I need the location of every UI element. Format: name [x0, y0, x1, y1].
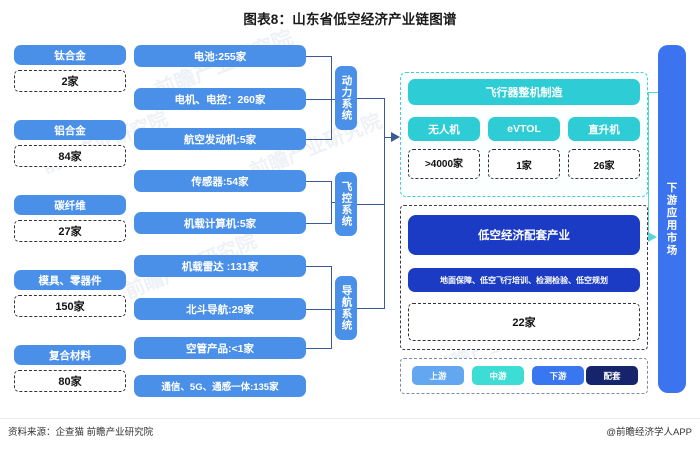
midstream-count-helicopter: 26家: [568, 149, 640, 179]
component-airborne-radar: 机载雷达 :131家: [134, 255, 306, 277]
downstream-market-bar: 下游应用市场: [658, 45, 686, 393]
app-attribution: @前瞻经济学人APP: [606, 424, 692, 438]
connector: [306, 181, 332, 182]
legend-chip-downstream: 下游: [532, 366, 584, 385]
material-count-0: 2家: [14, 70, 126, 92]
connector: [306, 139, 332, 140]
connector: [306, 223, 332, 224]
material-count-1: 84家: [14, 145, 126, 167]
connector: [331, 266, 332, 348]
supporting-count: 22家: [408, 303, 640, 341]
connector: [306, 99, 332, 100]
supporting-header: 低空经济配套产业: [408, 215, 640, 255]
legend-chip-upstream: 上游: [412, 366, 464, 385]
connector: [384, 98, 385, 308]
connector: [648, 92, 658, 93]
connector: [357, 308, 385, 309]
connector: [331, 56, 332, 140]
material-count-2: 27家: [14, 220, 126, 242]
material-count-3: 150家: [14, 295, 126, 317]
material-header-3: 模具、零器件: [14, 270, 126, 290]
material-header-0: 钛合金: [14, 45, 126, 65]
connector: [306, 348, 332, 349]
component-sensor: 传感器:54家: [134, 170, 306, 192]
chart-canvas: 前瞻产业研究院 前瞻产业研究院 前瞻产业研究院 前瞻产业研究院 前瞻产业研究院 …: [0, 0, 700, 449]
page-title: 图表8：山东省低空经济产业链图谱: [0, 8, 700, 28]
midstream-item-helicopter: 直升机: [568, 117, 640, 141]
component-airborne-computer: 机载计算机:5家: [134, 212, 306, 234]
connector: [306, 56, 332, 57]
system-navigation: 导航系统: [335, 276, 357, 340]
component-aero-engine: 航空发动机:5家: [134, 128, 306, 150]
connector: [306, 309, 332, 310]
component-motor-control: 电机、电控：260家: [134, 88, 306, 110]
system-flight-control: 飞控系统: [335, 172, 357, 236]
material-count-4: 80家: [14, 370, 126, 392]
midstream-item-uav: 无人机: [408, 117, 480, 141]
component-comm-5g: 通信、5G、通感一体:135家: [134, 375, 306, 397]
component-atm-products: 空管产品:<1家: [134, 337, 306, 359]
system-power: 动力系统: [335, 66, 357, 130]
footer-divider: [0, 418, 700, 419]
connector: [648, 92, 649, 237]
material-header-2: 碳纤维: [14, 195, 126, 215]
legend-chip-supporting: 配套: [586, 366, 638, 385]
legend-chip-midstream: 中游: [472, 366, 524, 385]
connector: [306, 266, 332, 267]
connector: [357, 204, 385, 205]
component-beidou-navigation: 北斗导航:29家: [134, 298, 306, 320]
supporting-detail: 地面保障、低空飞行培训、检测检验、低空规划: [408, 268, 640, 292]
connector: [357, 98, 385, 99]
arrow-icon: [648, 232, 658, 243]
material-header-1: 铝合金: [14, 120, 126, 140]
component-battery: 电池:255家: [134, 45, 306, 67]
material-header-4: 复合材料: [14, 345, 126, 365]
midstream-count-evtol: 1家: [488, 149, 560, 179]
midstream-item-evtol: eVTOL: [488, 117, 560, 141]
source-note: 资料来源：企查猫 前瞻产业研究院: [8, 424, 153, 438]
midstream-count-uav: >4000家: [408, 149, 480, 179]
midstream-header: 飞行器整机制造: [408, 79, 640, 105]
